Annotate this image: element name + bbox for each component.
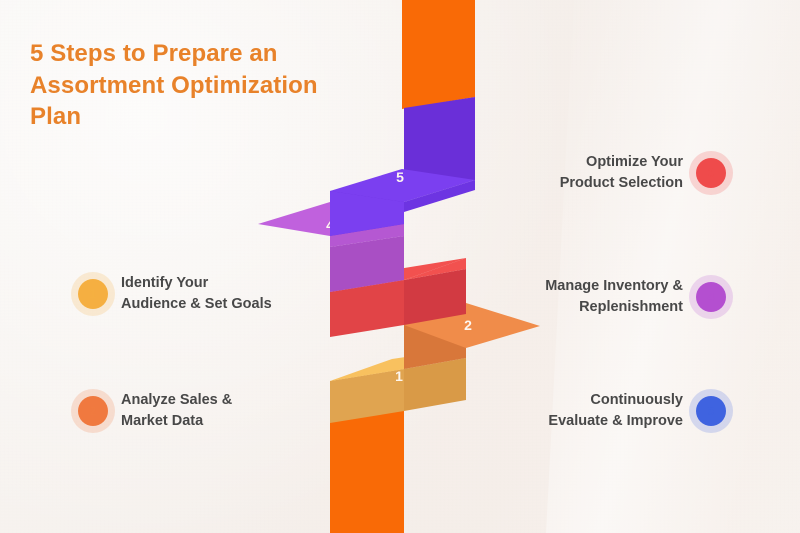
step-badge-2-number: 2 [90, 404, 97, 418]
iso-step-1-number: 1 [395, 368, 403, 384]
step-text-3: Optimize Your Product Selection [560, 152, 683, 193]
step-text-1: Identify Your Audience & Set Goals [121, 273, 272, 314]
step-label-5[interactable]: Continuously Evaluate & Improve 5 [548, 390, 726, 431]
step-badge-2: 2 [78, 396, 108, 426]
step-badge-3: 3 [696, 158, 726, 188]
bottom-orange-bar [330, 404, 404, 533]
step-label-4[interactable]: Manage Inventory & Replenishment 4 [545, 276, 726, 317]
step-badge-1-number: 1 [90, 287, 97, 301]
iso-step-2-number: 2 [464, 317, 472, 333]
step-text-5: Continuously Evaluate & Improve [548, 390, 683, 431]
step-text-4: Manage Inventory & Replenishment [545, 276, 683, 317]
step-label-1[interactable]: 1 Identify Your Audience & Set Goals [78, 273, 272, 314]
page-title: 5 Steps to Prepare an Assortment Optimiz… [30, 38, 360, 133]
step-badge-4: 4 [696, 282, 726, 312]
step-badge-5: 5 [696, 396, 726, 426]
top-orange-bar [402, 0, 475, 109]
step-badge-3-number: 3 [708, 166, 715, 180]
step-badge-1: 1 [78, 279, 108, 309]
step-badge-4-number: 4 [708, 290, 715, 304]
infographic-canvas: 1 2 3 4 [0, 0, 800, 533]
iso-step-5-number: 5 [396, 169, 404, 185]
step-badge-5-number: 5 [708, 404, 715, 418]
step-text-2: Analyze Sales & Market Data [121, 390, 232, 431]
step-label-3[interactable]: Optimize Your Product Selection 3 [560, 152, 726, 193]
step-label-2[interactable]: 2 Analyze Sales & Market Data [78, 390, 232, 431]
